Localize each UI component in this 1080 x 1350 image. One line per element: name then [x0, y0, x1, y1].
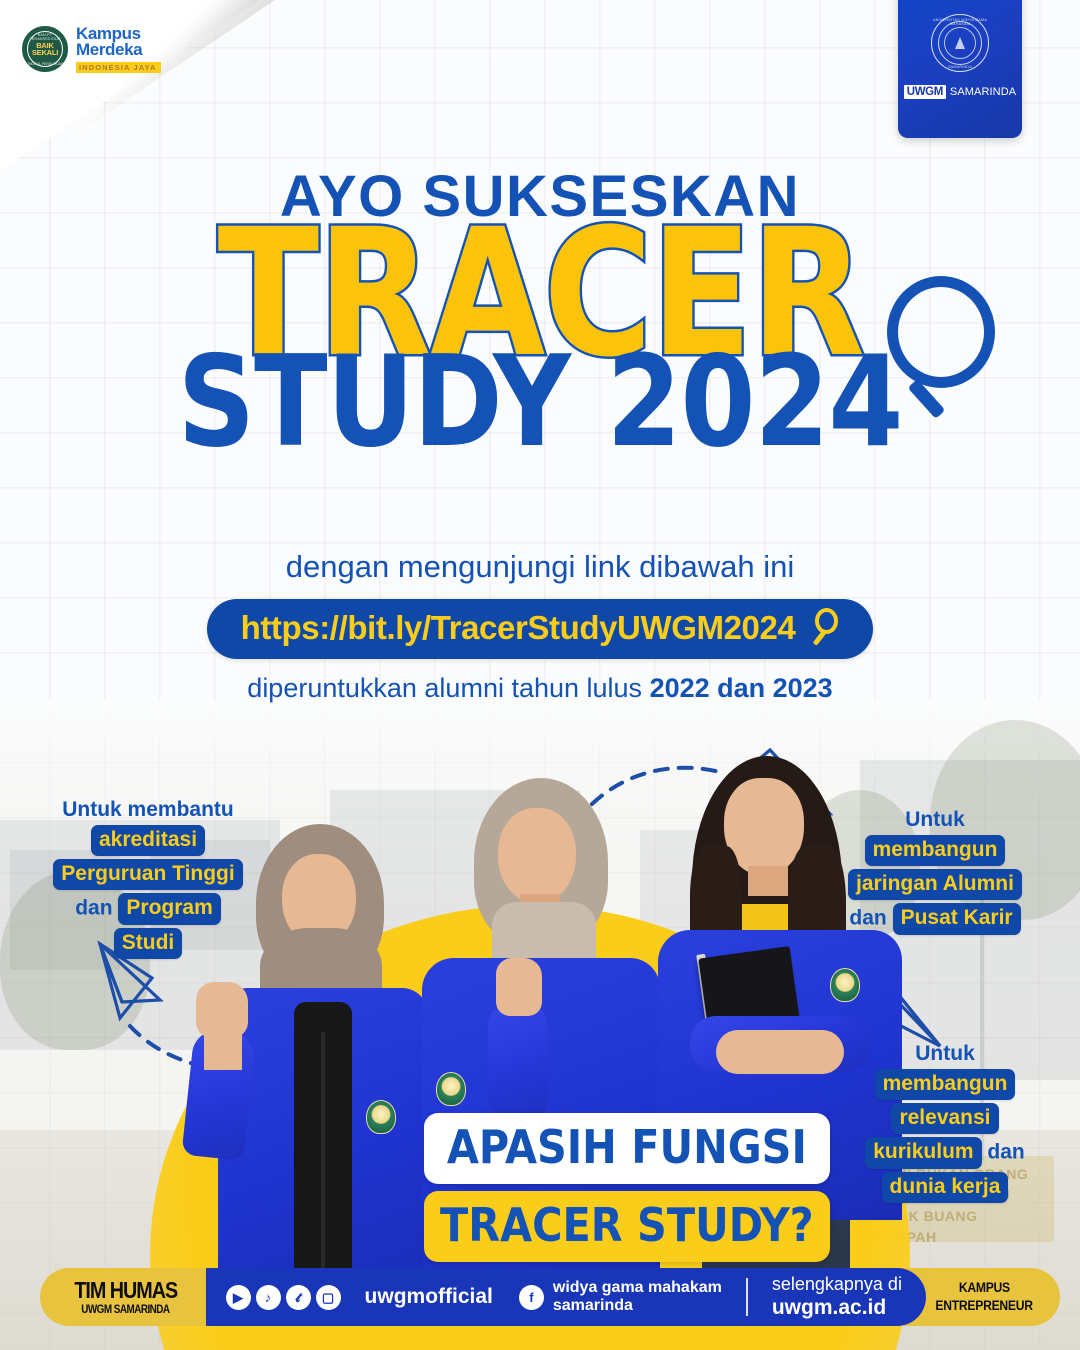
callout-segment: jaringan Alumni [848, 869, 1022, 900]
survey-url-text: https://bit.ly/TracerStudyUWGM2024 [241, 609, 796, 647]
university-crest-icon: UNIVERSITAS WIDYA GAMA MAHAKAM SAMARINDA [931, 14, 989, 72]
facebook-icon[interactable]: f [519, 1285, 544, 1310]
headline-word-study-year: STUDY 2024 [27, 349, 1053, 455]
crest-bottom-text: SAMARINDA [931, 65, 989, 69]
instagram-icon[interactable]: ▢ [316, 1285, 341, 1310]
footer-team-line1: TIM HUMAS [74, 1279, 177, 1302]
callout-segment: Perguruan Tinggi [53, 859, 242, 890]
facebook-name-line2: samarinda [553, 1297, 633, 1314]
eligibility-note: diperuntukkan alumni tahun lulus 2022 da… [0, 673, 1080, 704]
tiktok-icon[interactable]: ♪ [256, 1285, 281, 1310]
eligibility-years: 2022 dan 2023 [650, 673, 833, 703]
info-subtitle: dengan mengunjungi link dibawah ini [0, 548, 1080, 585]
crest-top-text: UNIVERSITAS WIDYA GAMA MAHAKAM [931, 18, 989, 26]
callout-segment: dunia kerja [882, 1172, 1009, 1203]
footer-team-badge: TIM HUMAS UWGM SAMARINDA [40, 1268, 206, 1326]
callout-segment: akreditasi [91, 825, 205, 856]
callout-segment: membangun [875, 1069, 1016, 1100]
callout-segment: dan [849, 906, 892, 929]
callout-segment: Studi [114, 928, 183, 959]
callout-segment: Untuk [915, 1042, 975, 1065]
university-patch-icon [366, 1100, 396, 1134]
callout-segment: kurikulum [865, 1137, 981, 1168]
callout-segment: Untuk [905, 808, 965, 831]
footer-tagline-line1: KAMPUS [958, 1279, 1009, 1297]
university-patch-icon [436, 1072, 466, 1106]
question-line-1: APASIH FUNGSI [424, 1113, 830, 1184]
callout-segment: membangun [865, 835, 1006, 866]
callout-segment: Untuk membantu [62, 798, 234, 821]
callout-segment: relevansi [891, 1103, 998, 1134]
x-twitter-icon[interactable]: 𝓽 [286, 1285, 311, 1310]
facebook-name-line1: widya gama mahakam [553, 1279, 722, 1296]
footer-website-group[interactable]: selengkapnya di uwgm.ac.id [772, 1274, 902, 1321]
youtube-icon[interactable]: ▶ [226, 1285, 251, 1310]
callout-segment: Program [118, 893, 220, 924]
footer-website[interactable]: uwgm.ac.id [772, 1296, 886, 1319]
info-block: dengan mengunjungi link dibawah ini http… [0, 548, 1080, 704]
seal-bottom-text: UNGGUL PERGURUAN [24, 62, 66, 66]
kampus-merdeka-logo: Kampus Merdeka INDONESIA JAYA [76, 26, 196, 75]
footer-bar: TIM HUMAS UWGM SAMARINDA ▶ ♪ 𝓽 ▢ uwgmoff… [40, 1268, 1060, 1326]
footer-divider [746, 1278, 748, 1316]
callout-accreditation: Untuk membantu akreditasi Perguruan Ting… [36, 796, 260, 960]
footer-team-line2: UWGM SAMARINDA [82, 1304, 170, 1316]
footer-more-label: selengkapnya di [772, 1274, 902, 1294]
magnifying-glass-icon [809, 608, 843, 648]
university-abbrev: UWGM [904, 85, 946, 99]
facebook-page-name: widya gama mahakam samarinda [553, 1279, 722, 1315]
social-icon-row: ▶ ♪ 𝓽 ▢ [226, 1285, 341, 1310]
seal-main-text: BAIK SEKALI [24, 42, 66, 57]
question-line-2: TRACER STUDY? [424, 1191, 830, 1262]
footer-tagline-line2: ENTREPRENEUR [935, 1297, 1032, 1315]
callout-segment: Pusat Karir [893, 903, 1021, 934]
folded-corner-decoration: BAN-PT TERAKREDITASI BAIK SEKALI UNGGUL … [0, 0, 260, 170]
university-logo-panel: UNIVERSITAS WIDYA GAMA MAHAKAM SAMARINDA… [898, 0, 1022, 138]
poster-canvas: KAMI BUKAN ORANG OLEH KARENA ITU TIDAK B… [0, 0, 1080, 1350]
callout-segment: dan [75, 896, 118, 919]
seal-top-text: BAN-PT TERAKREDITASI [24, 33, 66, 41]
survey-link-button[interactable]: https://bit.ly/TracerStudyUWGM2024 [207, 599, 874, 659]
kampus-merdeka-tagline: INDONESIA JAYA [76, 62, 161, 73]
facebook-group[interactable]: f widya gama mahakam samarinda [519, 1279, 722, 1315]
callout-segment: dan [982, 1140, 1025, 1163]
accreditation-seal-icon: BAN-PT TERAKREDITASI BAIK SEKALI UNGGUL … [22, 26, 68, 72]
callout-alumni-network: Untuk membangun jaringan Alumni dan Pusa… [830, 806, 1040, 936]
kampus-merdeka-line2: Merdeka [76, 42, 196, 58]
headline-block: AYO SUKSESKAN TRACER STUDY 2024 [0, 168, 1080, 455]
social-handle[interactable]: uwgmofficial [365, 1285, 493, 1309]
eligibility-prefix: diperuntukkan alumni tahun lulus [247, 673, 649, 703]
university-patch-icon [830, 968, 860, 1002]
footer-social-bar: ▶ ♪ 𝓽 ▢ uwgmofficial f widya gama mahaka… [180, 1268, 926, 1326]
question-block: APASIH FUNGSI TRACER STUDY? [424, 1113, 830, 1262]
university-city: SAMARINDA [950, 86, 1016, 98]
callout-curriculum: Untuk membangun relevansi kurikulum dan … [840, 1040, 1050, 1204]
